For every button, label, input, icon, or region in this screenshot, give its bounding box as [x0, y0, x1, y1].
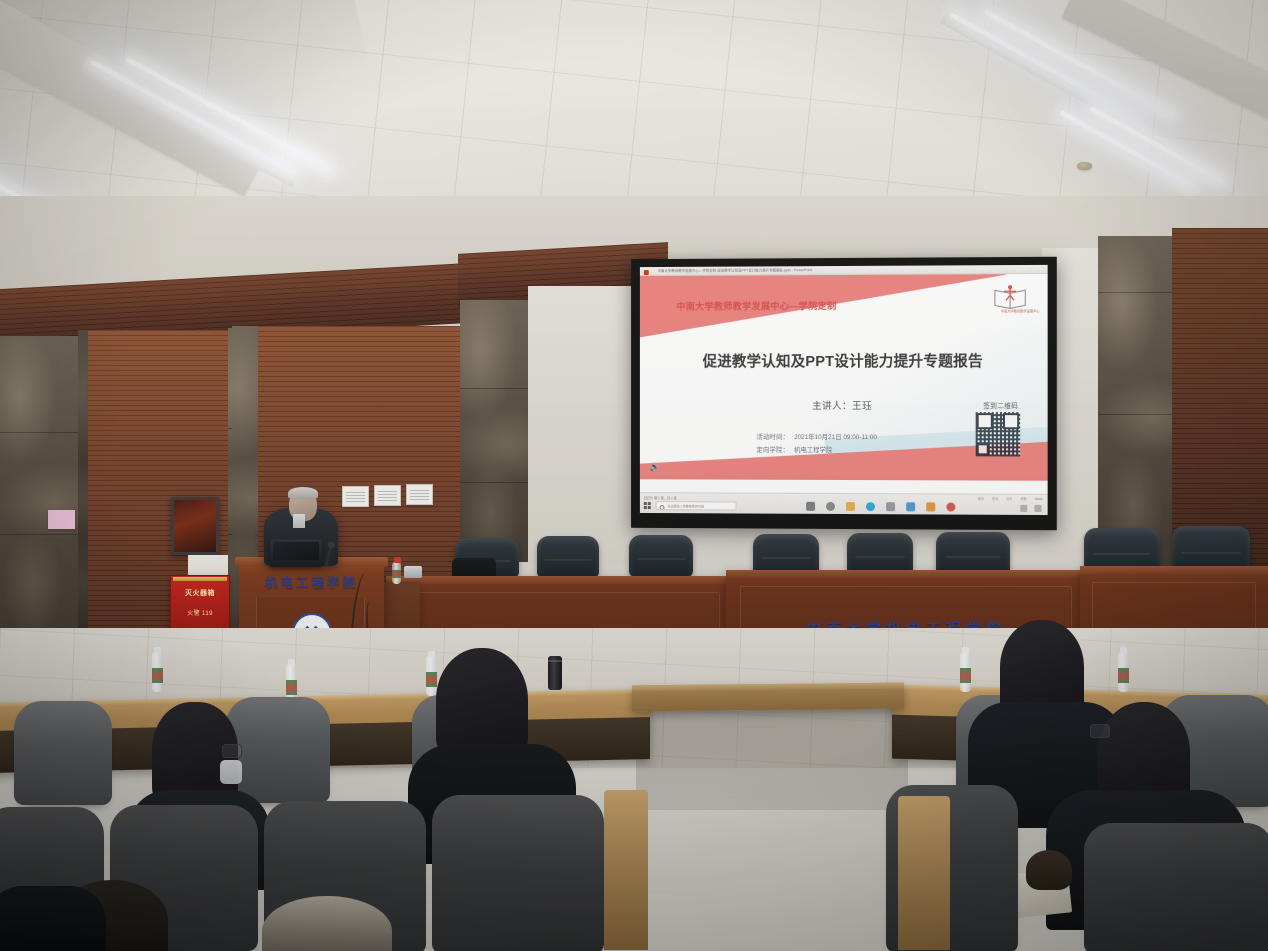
attendee-1-glasses-icon	[222, 744, 242, 758]
status-item-1[interactable]: 批注	[992, 497, 998, 501]
slide-meta-label-time: 活动时间：	[756, 434, 789, 441]
seat-f5-armrest	[898, 796, 950, 950]
attendee-4-hand	[1026, 850, 1072, 890]
edge-browser-icon[interactable]	[866, 502, 875, 511]
smoke-detector-icon	[1077, 162, 1092, 170]
signin-qr-code-icon	[976, 412, 1021, 456]
exec-chair-3	[629, 535, 693, 577]
slide-breadcrumb: 幻灯片 第 1 张，共 1 张	[644, 495, 677, 500]
exec-chair-5	[847, 533, 913, 575]
water-bottle-1	[152, 652, 163, 692]
tray-volume-icon[interactable]	[1034, 505, 1041, 512]
wps-icon[interactable]	[926, 502, 935, 511]
audience-desk-row-center	[632, 683, 904, 712]
seat-b2	[232, 702, 324, 800]
lecture-hall-photo: 灭火器箱 火警 119 中南大学教师教学发展中心—学院定制-促进教学认知及PPT…	[0, 0, 1268, 951]
fire-cabinet-subtitle: 火警 119	[171, 608, 229, 617]
taskbar-icon-group	[806, 502, 955, 512]
marble-column-1	[0, 336, 80, 638]
wall-white-panel-left	[528, 286, 638, 564]
seat-f4-armrest	[604, 790, 648, 950]
exec-chair-2	[537, 536, 599, 578]
bottle-podium-side	[392, 562, 401, 584]
status-item-0[interactable]: 备注	[978, 497, 984, 501]
slide-meta-label-college: 定向学院：	[756, 447, 789, 454]
wall-notice-3	[406, 484, 433, 505]
slide-meta-value-college: 机电工程学院	[794, 447, 832, 454]
seat-b1	[20, 706, 106, 802]
slide-meta-value-time: 2021年10月21日 09:00-11:00	[794, 434, 877, 441]
water-bottle-4	[960, 652, 971, 692]
slide-meta-row: 定向学院：机电工程学院	[756, 444, 877, 457]
presentation-slide: 中南大学教师教学发展中心—学院定制-促进教学认知及PPT设计能力提升专题报告.p…	[640, 265, 1048, 515]
qr-caption: 签到二维码	[983, 400, 1018, 410]
cortana-icon[interactable]	[826, 502, 835, 511]
attendee-2-head	[436, 648, 528, 756]
water-bottle-5	[1118, 652, 1129, 692]
taskbar-tray	[1020, 505, 1041, 512]
attendee-4-glasses-icon	[1090, 724, 1110, 738]
windows-taskbar: 备注 批注 显示 视图 100% 幻灯片 第 1 张，共 1 张 在这里输入你要…	[640, 492, 1048, 515]
laptop-on-podium	[270, 539, 322, 567]
attendee-1-face-mask	[220, 760, 242, 784]
fire-cabinet-title: 灭火器箱	[171, 588, 229, 598]
onedrive-icon[interactable]	[906, 502, 915, 511]
fire-extinguisher-cabinet: 灭火器箱 火警 119	[170, 575, 230, 631]
wood-wall-panel-right	[1172, 228, 1268, 570]
attendee-7-body	[0, 886, 106, 951]
task-view-icon[interactable]	[806, 502, 815, 511]
slide-canvas: 中南大学教师教学发展中心 中南大学教师教学发展中心—学院定制 促进教学认知及PP…	[640, 274, 1048, 481]
zoom-level-label[interactable]: 100%	[1035, 497, 1043, 501]
taskbar-search-input[interactable]: 在这里输入你要搜索的内容	[656, 501, 737, 510]
marble-column-4	[1098, 236, 1176, 566]
speaker-shirt-collar	[293, 514, 305, 528]
framed-artwork	[171, 497, 219, 555]
tissue-box	[404, 566, 422, 578]
water-bottle-3	[426, 656, 437, 696]
chat-app-icon[interactable]	[946, 502, 955, 511]
marble-column-1-edge	[78, 330, 88, 638]
tray-network-icon[interactable]	[1020, 505, 1027, 512]
speaker-hair	[288, 487, 318, 499]
mail-icon[interactable]	[886, 502, 895, 511]
marble-column-3	[460, 300, 528, 562]
powerpoint-status-row: 备注 批注 显示 视图 100%	[978, 497, 1043, 501]
slide-title-text: 促进教学认知及PPT设计能力提升专题报告	[640, 350, 1048, 372]
file-explorer-icon[interactable]	[846, 502, 855, 511]
status-item-3[interactable]: 视图	[1021, 497, 1027, 501]
seat-f6	[1090, 828, 1268, 951]
slide-header-text: 中南大学教师教学发展中心—学院定制	[676, 298, 836, 313]
status-item-2[interactable]: 显示	[1006, 497, 1012, 501]
black-thermos	[548, 656, 562, 690]
wall-notice-pink	[48, 510, 75, 529]
slide-logo-caption: 中南大学教师教学发展中心	[1001, 308, 1040, 313]
seat-f4	[438, 800, 598, 951]
start-button-icon[interactable]	[644, 502, 651, 509]
wall-notice-2	[374, 485, 401, 506]
wall-notice-1	[342, 486, 369, 507]
slide-meta-row: 活动时间：2021年10月21日 09:00-11:00	[756, 431, 877, 444]
projection-screen: 中南大学教师教学发展中心—学院定制-促进教学认知及PPT设计能力提升专题报告.p…	[631, 257, 1057, 530]
audio-speaker-icon: 🔊	[650, 462, 660, 471]
slide-meta-block: 活动时间：2021年10月21日 09:00-11:00 定向学院：机电工程学院	[756, 431, 877, 457]
